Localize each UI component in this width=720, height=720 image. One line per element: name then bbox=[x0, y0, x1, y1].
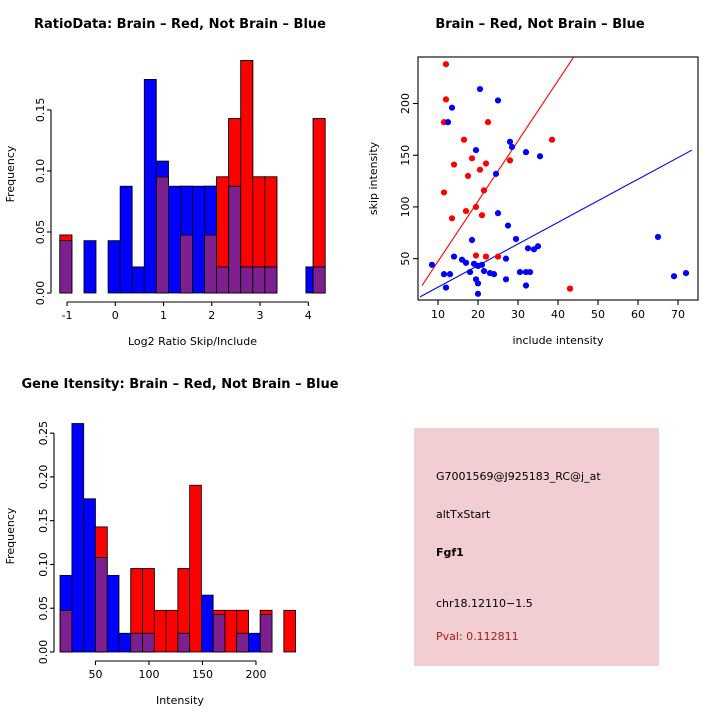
histogram-bar-brain bbox=[154, 610, 166, 652]
histogram-bar-overlap bbox=[180, 235, 192, 293]
scatter-title: Brain – Red, Not Brain – Blue bbox=[360, 17, 720, 32]
y-axis-title: Frequency bbox=[4, 507, 17, 564]
x-tick-label: 200 bbox=[245, 668, 266, 681]
histogram-bar-top bbox=[180, 186, 192, 235]
gene-symbol-label: Fgf1 bbox=[436, 546, 464, 559]
regression-line-not-brain-fit bbox=[420, 150, 692, 297]
histogram-bar-not-brain bbox=[193, 186, 205, 293]
histogram-bar-top bbox=[205, 186, 217, 235]
scatter-point-brain bbox=[483, 160, 489, 166]
x-tick-label: 150 bbox=[192, 668, 213, 681]
scatter-point-not-brain bbox=[495, 97, 501, 103]
y-tick-label: 0.05 bbox=[37, 596, 50, 621]
scatter-point-not-brain bbox=[473, 147, 479, 153]
y-tick-label: 0.00 bbox=[37, 640, 50, 665]
y-tick-label: 0.25 bbox=[37, 421, 50, 446]
scatter-point-not-brain bbox=[527, 269, 533, 275]
histogram-bar-overlap bbox=[60, 610, 72, 652]
scatter-point-brain bbox=[495, 253, 501, 259]
scatter-point-not-brain bbox=[503, 276, 509, 282]
histogram-bar-overlap bbox=[260, 614, 272, 652]
histogram-bar-not-brain bbox=[201, 595, 213, 652]
histogram-bar-overlap bbox=[95, 557, 107, 652]
histogram-bar-not-brain bbox=[120, 186, 132, 293]
y-axis-title: skip intensity bbox=[367, 141, 380, 215]
histogram-bar-not-brain bbox=[144, 79, 156, 293]
scatter-point-not-brain bbox=[495, 210, 501, 216]
scatter-point-not-brain bbox=[479, 262, 485, 268]
histogram-bar-overlap bbox=[265, 267, 277, 293]
y-axis-title: Frequency bbox=[4, 145, 17, 202]
histogram-bar-not-brain bbox=[119, 633, 131, 652]
regression-line-brain-fit bbox=[422, 41, 584, 285]
y-tick-label: 0.10 bbox=[34, 159, 47, 184]
scatter-point-brain bbox=[463, 208, 469, 214]
histogram-bar-top bbox=[237, 610, 249, 633]
scatter-point-not-brain bbox=[683, 270, 689, 276]
scatter-point-not-brain bbox=[445, 119, 451, 125]
scatter-point-not-brain bbox=[655, 234, 661, 240]
histogram-bar-not-brain bbox=[132, 267, 144, 293]
x-tick-label: 4 bbox=[305, 309, 312, 322]
histogram-bar-top bbox=[131, 569, 143, 634]
probe-id-label: G7001569@J925183_RC@j_at bbox=[436, 470, 601, 483]
scatter-point-not-brain bbox=[469, 237, 475, 243]
scatter-point-brain bbox=[465, 173, 471, 179]
histogram-bar-top bbox=[178, 569, 190, 634]
x-tick-label: 0 bbox=[112, 309, 119, 322]
scatter-points bbox=[429, 61, 689, 297]
plot-box bbox=[418, 57, 698, 300]
scatter-point-brain bbox=[443, 96, 449, 102]
y-tick-label: 100 bbox=[399, 196, 412, 217]
x-tick-label: 60 bbox=[631, 308, 645, 321]
histogram-bar-brain bbox=[190, 485, 202, 652]
scatter-point-not-brain bbox=[481, 268, 487, 274]
scatter-point-not-brain bbox=[537, 153, 543, 159]
histogram-bar-overlap bbox=[217, 267, 229, 293]
x-axis-title: Intensity bbox=[156, 694, 204, 707]
scatter-point-not-brain bbox=[475, 280, 481, 286]
histogram-bar-top bbox=[229, 119, 241, 187]
scatter-point-not-brain bbox=[443, 284, 449, 290]
scatter-point-not-brain bbox=[447, 271, 453, 277]
histogram-bar-overlap bbox=[253, 267, 265, 293]
scatter-point-not-brain bbox=[531, 246, 537, 252]
event-type-label: altTxStart bbox=[436, 508, 490, 521]
scatter-point-not-brain bbox=[513, 236, 519, 242]
histogram-bar-not-brain bbox=[248, 633, 260, 652]
axes: 5010015020010203040506070include intensi… bbox=[367, 93, 685, 347]
plot-page: RatioData: Brain – Red, Not Brain – Blue… bbox=[0, 0, 720, 720]
histogram-bar-top bbox=[217, 177, 229, 267]
scatter-point-not-brain bbox=[493, 171, 499, 177]
scatter-point-brain bbox=[479, 212, 485, 218]
x-tick-label: 70 bbox=[671, 308, 685, 321]
x-axis-title: Log2 Ratio Skip/Include bbox=[128, 335, 257, 348]
histogram-bar-overlap bbox=[237, 633, 249, 652]
x-tick-label: 100 bbox=[138, 668, 159, 681]
scatter-point-brain bbox=[441, 189, 447, 195]
scatter-point-brain bbox=[483, 253, 489, 259]
x-tick-label: 1 bbox=[160, 309, 167, 322]
panel-gene-info: G7001569@J925183_RC@j_at altTxStart Fgf1… bbox=[414, 428, 659, 666]
histogram-bar-overlap bbox=[229, 186, 241, 293]
gene-histogram-title: Gene Itensity: Brain – Red, Not Brain – … bbox=[0, 377, 360, 392]
scatter-point-not-brain bbox=[467, 269, 473, 275]
histogram-bar-top bbox=[253, 177, 265, 267]
y-tick-label: 0.15 bbox=[37, 508, 50, 533]
histogram-bar-not-brain bbox=[108, 241, 120, 293]
histogram-bar-brain bbox=[225, 610, 237, 652]
scatter-point-brain bbox=[507, 157, 513, 163]
scatter-point-not-brain bbox=[503, 256, 509, 262]
histogram-bar-top bbox=[241, 60, 253, 266]
histogram-bar-top bbox=[313, 119, 325, 267]
x-axis-title: include intensity bbox=[512, 334, 604, 347]
panel-ratio-histogram: RatioData: Brain – Red, Not Brain – Blue… bbox=[0, 0, 360, 360]
y-tick-label: 0.00 bbox=[34, 281, 47, 306]
y-tick-label: 0.10 bbox=[37, 552, 50, 577]
axes: 0.000.050.100.150.200.2550100150200Inten… bbox=[4, 421, 266, 707]
scatter-point-brain bbox=[449, 215, 455, 221]
histogram-bar-top bbox=[265, 177, 277, 267]
x-tick-label: 3 bbox=[257, 309, 264, 322]
histogram-bar-top bbox=[95, 527, 107, 558]
histogram-bar-not-brain bbox=[107, 575, 119, 652]
scatter-point-not-brain bbox=[671, 273, 677, 279]
scatter-point-brain bbox=[485, 119, 491, 125]
x-tick-label: -1 bbox=[62, 309, 73, 322]
panel-gene-histogram: Gene Itensity: Brain – Red, Not Brain – … bbox=[0, 360, 360, 720]
histogram-bar-overlap bbox=[213, 614, 225, 652]
histogram-bar-top bbox=[60, 575, 72, 610]
scatter-point-brain bbox=[451, 161, 457, 167]
y-tick-label: 0.05 bbox=[34, 220, 47, 245]
x-tick-label: 20 bbox=[471, 308, 485, 321]
pvalue-label: Pval: 0.112811 bbox=[436, 630, 519, 643]
y-tick-label: 50 bbox=[399, 252, 412, 266]
x-tick-label: 40 bbox=[551, 308, 565, 321]
scatter-point-not-brain bbox=[477, 86, 483, 92]
histogram-bars bbox=[60, 424, 295, 652]
x-tick-label: 50 bbox=[88, 668, 102, 681]
scatter-point-brain bbox=[469, 155, 475, 161]
scatter-point-brain bbox=[443, 61, 449, 67]
scatter-point-brain bbox=[473, 252, 479, 258]
histogram-bar-overlap bbox=[156, 177, 168, 293]
x-tick-label: 30 bbox=[511, 308, 525, 321]
ratio-histogram-title: RatioData: Brain – Red, Not Brain – Blue bbox=[0, 17, 360, 32]
scatter-point-not-brain bbox=[429, 262, 435, 268]
scatter-point-not-brain bbox=[505, 222, 511, 228]
scatter-point-not-brain bbox=[509, 144, 515, 150]
histogram-bar-top bbox=[213, 610, 225, 614]
scatter-point-not-brain bbox=[463, 260, 469, 266]
histogram-bar-top bbox=[260, 610, 272, 614]
histogram-bar-brain bbox=[166, 610, 178, 652]
scatter-point-not-brain bbox=[523, 149, 529, 155]
histogram-bar-not-brain bbox=[72, 424, 84, 652]
scatter-point-brain bbox=[481, 187, 487, 193]
histogram-bar-overlap bbox=[178, 633, 190, 652]
panel-intensity-scatter: Brain – Red, Not Brain – Blue 5010015020… bbox=[360, 0, 720, 360]
gene-histogram-canvas: 0.000.050.100.150.200.2550100150200Inten… bbox=[0, 360, 360, 720]
histogram-bar-overlap bbox=[131, 633, 143, 652]
y-tick-label: 0.20 bbox=[37, 465, 50, 490]
scatter-point-not-brain bbox=[449, 105, 455, 111]
scatter-canvas: 5010015020010203040506070include intensi… bbox=[360, 0, 720, 360]
histogram-bar-overlap bbox=[143, 633, 155, 652]
scatter-point-brain bbox=[567, 286, 573, 292]
histogram-bar-overlap bbox=[205, 235, 217, 293]
histogram-bar-top bbox=[143, 569, 155, 634]
scatter-point-not-brain bbox=[491, 271, 497, 277]
locus-label: chr18.12110−1.5 bbox=[436, 597, 533, 610]
histogram-bar-brain bbox=[284, 610, 296, 652]
histogram-bar-not-brain bbox=[84, 241, 96, 293]
scatter-point-brain bbox=[473, 204, 479, 210]
histogram-bar-overlap bbox=[313, 267, 325, 293]
ratio-histogram-canvas: 0.000.050.100.15-101234Log2 Ratio Skip/I… bbox=[0, 0, 360, 360]
y-tick-label: 200 bbox=[399, 93, 412, 114]
scatter-point-brain bbox=[461, 137, 467, 143]
scatter-point-not-brain bbox=[475, 291, 481, 297]
scatter-point-not-brain bbox=[523, 282, 529, 288]
y-tick-label: 0.15 bbox=[34, 98, 47, 123]
x-tick-label: 2 bbox=[208, 309, 215, 322]
scatter-point-not-brain bbox=[451, 253, 457, 259]
scatter-point-not-brain bbox=[441, 271, 447, 277]
histogram-bar-overlap bbox=[60, 241, 72, 293]
y-tick-label: 150 bbox=[399, 145, 412, 166]
histogram-bars bbox=[60, 60, 325, 293]
histogram-bar-top bbox=[156, 161, 168, 177]
scatter-point-not-brain bbox=[525, 245, 531, 251]
histogram-bar-top bbox=[60, 235, 72, 241]
x-tick-label: 50 bbox=[591, 308, 605, 321]
scatter-point-not-brain bbox=[517, 269, 523, 275]
scatter-point-brain bbox=[477, 167, 483, 173]
histogram-bar-not-brain bbox=[168, 186, 180, 293]
x-tick-label: 10 bbox=[431, 308, 445, 321]
scatter-point-brain bbox=[549, 137, 555, 143]
histogram-bar-overlap bbox=[241, 267, 253, 293]
histogram-bar-not-brain bbox=[84, 499, 96, 652]
